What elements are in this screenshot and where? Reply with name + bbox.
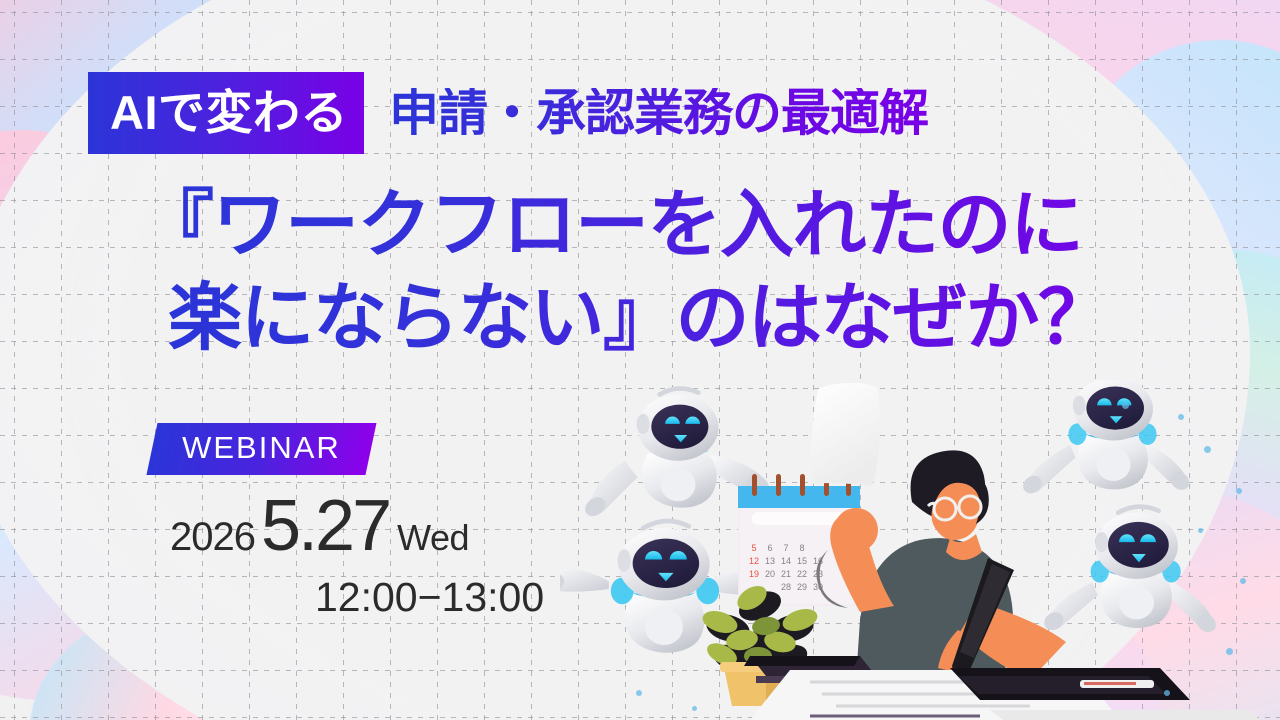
webinar-badge-label: WEBINAR [182, 431, 341, 466]
webinar-badge-wrap: WEBINAR [152, 423, 371, 475]
webinar-banner: 1567812131415161920212223282930 [0, 0, 1280, 720]
headline-line-1: 『ワークフローを入れたのに [140, 178, 1200, 271]
date-row: 2026 5.27 Wed [170, 490, 570, 562]
kicker-badge: AIで変わる [88, 72, 364, 154]
page-title: 『ワークフローを入れたのに 楽にならない』のはなぜか？ [140, 178, 1200, 364]
event-date-block: 2026 5.27 Wed 12:00−13:00 [170, 490, 570, 621]
event-time: 12:00−13:00 [315, 574, 570, 621]
date-monthday: 5.27 [261, 490, 389, 562]
date-year: 2026 [170, 515, 255, 560]
headline-line-2: 楽にならない』のはなぜか？ [168, 271, 1200, 364]
banner-content: AIで変わる 申請・承認業務の最適解 『ワークフローを入れたのに 楽にならない』… [0, 0, 1280, 720]
kicker-row: AIで変わる 申請・承認業務の最適解 [88, 72, 928, 154]
kicker-text: 申請・承認業務の最適解 [389, 88, 928, 138]
webinar-badge: WEBINAR [147, 423, 377, 475]
date-weekday: Wed [397, 517, 469, 559]
